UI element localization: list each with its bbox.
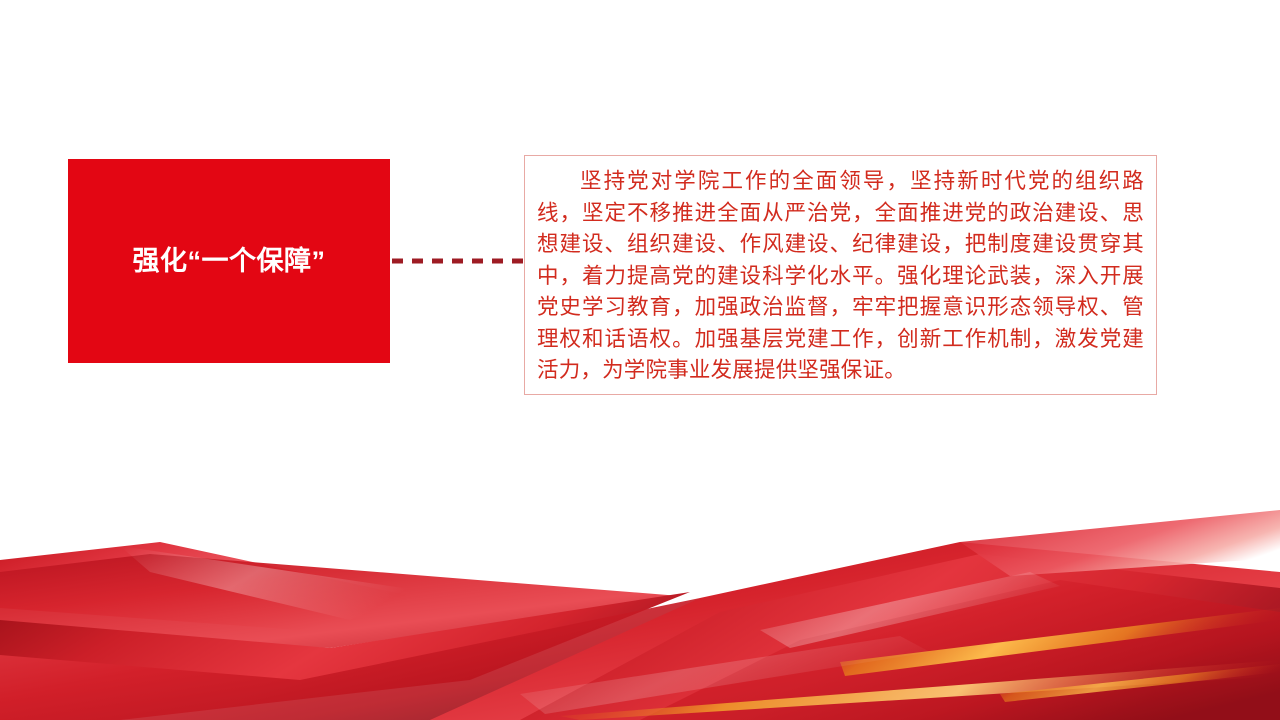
label-box-title: 强化“一个保障” <box>133 245 326 277</box>
dashed-connector-line <box>390 256 526 266</box>
red-silk-ribbon-decoration <box>0 480 1280 720</box>
content-text-box: 坚持党对学院工作的全面领导，坚持新时代党的组织路线，坚定不移推进全面从严治党，全… <box>524 155 1157 395</box>
content-paragraph: 坚持党对学院工作的全面领导，坚持新时代党的组织路线，坚定不移推进全面从严治党，全… <box>537 166 1144 387</box>
highlight-label-box: 强化“一个保障” <box>68 159 390 363</box>
slide-canvas: 强化“一个保障” 坚持党对学院工作的全面领导，坚持新时代党的组织路线，坚定不移推… <box>0 0 1280 720</box>
